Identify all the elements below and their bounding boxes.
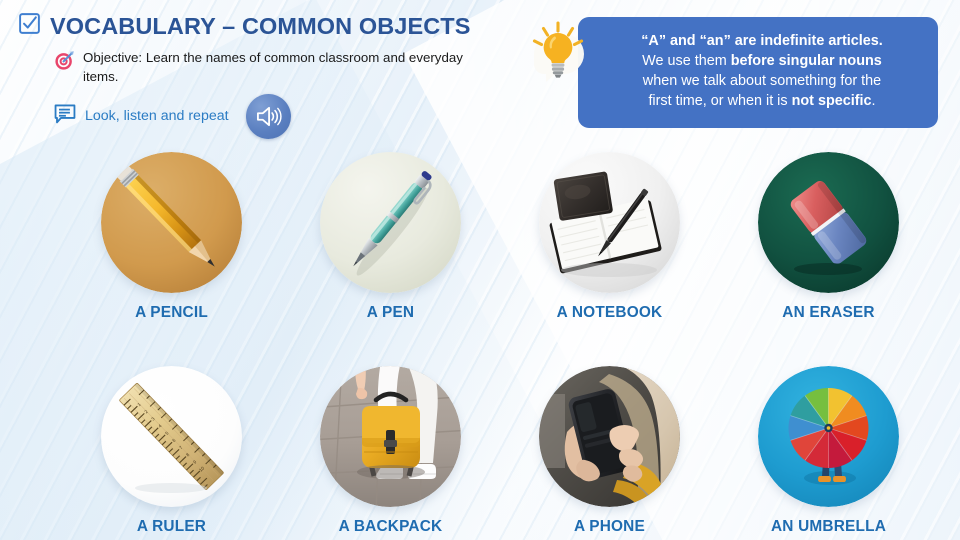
phone-photo bbox=[539, 366, 680, 507]
eraser-photo bbox=[758, 152, 899, 293]
instruction-row: Look, listen and repeat bbox=[54, 94, 558, 139]
vocab-item-notebook[interactable]: A NOTEBOOK bbox=[500, 152, 719, 322]
ruler-photo: 12 34 56 78 910 bbox=[101, 366, 242, 507]
instruction-text: Look, listen and repeat bbox=[85, 108, 229, 124]
vocab-item-eraser[interactable]: AN ERASER bbox=[719, 152, 938, 322]
speaker-audio-icon[interactable] bbox=[246, 94, 291, 139]
vocab-label: A PEN bbox=[367, 304, 414, 322]
vocab-label: A NOTEBOOK bbox=[557, 304, 663, 322]
tip-line-4-bold: not specific bbox=[792, 93, 872, 109]
vocab-label: A PENCIL bbox=[135, 304, 208, 322]
vocabulary-row-2: 12 34 56 78 910 A RULER bbox=[0, 366, 960, 536]
objective-text: Objective: Learn the names of common cla… bbox=[83, 49, 463, 87]
grammar-tip-callout: “A” and “an” are indefinite articles. We… bbox=[578, 17, 938, 128]
tip-line-2-bold: before singular nouns bbox=[731, 53, 882, 69]
slide-header: VOCABULARY – COMMON OBJECTS Objective: L… bbox=[18, 12, 558, 139]
vocab-item-pencil[interactable]: A PENCIL bbox=[62, 152, 281, 322]
tip-line-1: “A” and “an” are indefinite articles. bbox=[641, 33, 883, 49]
pencil-photo bbox=[101, 152, 242, 293]
vocab-label: AN UMBRELLA bbox=[771, 518, 886, 536]
objective-row: Objective: Learn the names of common cla… bbox=[54, 49, 558, 87]
vocab-item-phone[interactable]: A PHONE bbox=[500, 366, 719, 536]
vocab-item-backpack[interactable]: A BACKPACK bbox=[281, 366, 500, 536]
vocab-label: AN ERASER bbox=[782, 304, 874, 322]
vocab-item-umbrella[interactable]: AN UMBRELLA bbox=[719, 366, 938, 536]
vocab-label: A BACKPACK bbox=[339, 518, 443, 536]
checkbox-checked-icon bbox=[18, 12, 41, 40]
page-title: VOCABULARY – COMMON OBJECTS bbox=[50, 13, 471, 40]
backpack-photo bbox=[320, 366, 461, 507]
umbrella-photo bbox=[758, 366, 899, 507]
vocabulary-grid: A PENCIL bbox=[0, 152, 960, 536]
notebook-photo bbox=[539, 152, 680, 293]
vocabulary-row-1: A PENCIL bbox=[0, 152, 960, 322]
pen-photo bbox=[320, 152, 461, 293]
vocab-label: A RULER bbox=[137, 518, 206, 536]
title-row: VOCABULARY – COMMON OBJECTS bbox=[18, 12, 558, 40]
tip-line-2-prefix: We use them bbox=[642, 53, 731, 69]
speech-bubble-icon bbox=[54, 104, 76, 129]
vocab-label: A PHONE bbox=[574, 518, 645, 536]
tip-line-4-prefix: first time, or when it is bbox=[648, 93, 791, 109]
tip-line-4-suffix: . bbox=[872, 93, 876, 109]
slide-canvas: VOCABULARY – COMMON OBJECTS Objective: L… bbox=[0, 0, 960, 540]
vocab-item-pen[interactable]: A PEN bbox=[281, 152, 500, 322]
vocab-item-ruler[interactable]: 12 34 56 78 910 A RULER bbox=[62, 366, 281, 536]
tip-line-3: when we talk about something for the bbox=[643, 73, 881, 89]
grammar-tip-text: “A” and “an” are indefinite articles. We… bbox=[641, 32, 883, 112]
target-dart-icon bbox=[54, 50, 75, 76]
